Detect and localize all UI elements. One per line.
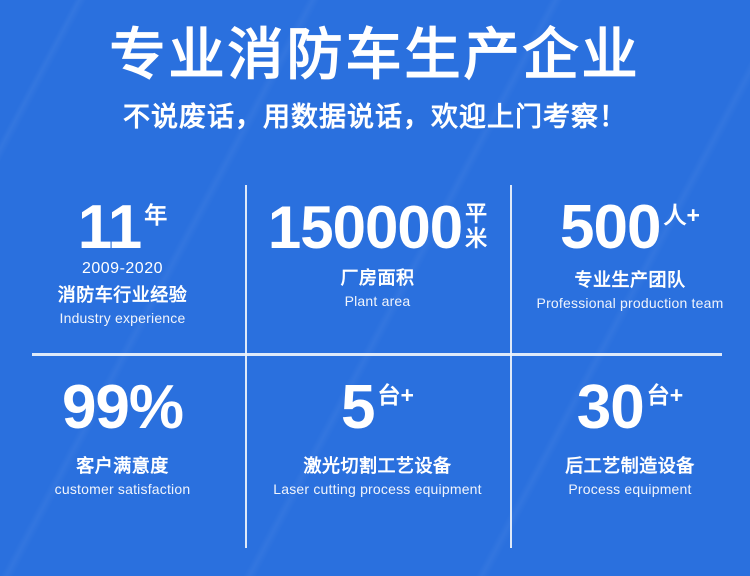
stat-value: 99% xyxy=(62,379,183,438)
stat-label-cn: 厂房面积 xyxy=(341,264,415,290)
stat-label-cn: 客户满意度 xyxy=(76,452,169,478)
stat-number: 5 xyxy=(341,379,374,438)
stat-unit: 年 xyxy=(144,203,167,227)
poster-header: 专业消防车生产企业 不说废话，用数据说话，欢迎上门考察！ xyxy=(0,0,750,133)
stat-labels: 后工艺制造设备 Process equipment xyxy=(565,452,695,497)
stat-label-cn: 专业生产团队 xyxy=(575,266,686,292)
stat-card-production-team: 500 人+ 专业生产团队 Professional production te… xyxy=(510,185,750,355)
stat-labels: 客户满意度 customer satisfaction xyxy=(55,452,191,497)
stat-labels: 专业生产团队 Professional production team xyxy=(537,266,724,311)
stat-number: 500 xyxy=(560,199,660,258)
stat-value: 500 人+ xyxy=(560,199,700,258)
stat-unit-bottom: 米 xyxy=(465,227,487,252)
poster-content: 专业消防车生产企业 不说废话，用数据说话，欢迎上门考察！ 11 年 2009-2… xyxy=(0,0,750,576)
stat-number: 30 xyxy=(577,379,644,438)
stat-unit: 台+ xyxy=(647,383,683,407)
stat-unit-top: 平 xyxy=(465,202,487,227)
stat-labels: 2009-2020 消防车行业经验 Industry experience xyxy=(58,260,188,326)
stat-value: 5 台+ xyxy=(341,379,414,438)
stat-number: 99% xyxy=(62,379,183,438)
stat-label-en: Laser cutting process equipment xyxy=(273,481,482,497)
stat-label-en: Plant area xyxy=(345,293,411,309)
stat-year-range: 2009-2020 xyxy=(82,260,163,278)
stat-labels: 激光切割工艺设备 Laser cutting process equipment xyxy=(273,452,482,497)
stat-label-cn: 消防车行业经验 xyxy=(58,281,188,307)
stat-unit: 台+ xyxy=(378,383,414,407)
page-title: 专业消防车生产企业 xyxy=(0,24,750,87)
stat-card-process-equipment: 30 台+ 后工艺制造设备 Process equipment xyxy=(510,355,750,550)
stat-card-plant-area: 150000 平 米 厂房面积 Plant area xyxy=(245,185,510,355)
stat-card-customer-satisfaction: 99% 客户满意度 customer satisfaction xyxy=(0,355,245,550)
stats-grid: 11 年 2009-2020 消防车行业经验 Industry experien… xyxy=(0,185,750,550)
stat-card-industry-experience: 11 年 2009-2020 消防车行业经验 Industry experien… xyxy=(0,185,245,355)
stat-number: 11 xyxy=(78,199,142,258)
stat-number: 150000 xyxy=(268,199,462,256)
stat-unit: 人+ xyxy=(664,203,700,227)
page-subtitle: 不说废话，用数据说话，欢迎上门考察！ xyxy=(0,101,750,133)
stat-label-cn: 激光切割工艺设备 xyxy=(303,452,451,478)
stat-card-laser-cutting-equipment: 5 台+ 激光切割工艺设备 Laser cutting process equi… xyxy=(245,355,510,550)
stat-labels: 厂房面积 Plant area xyxy=(341,264,415,309)
stat-label-en: Industry experience xyxy=(60,310,186,326)
stat-label-en: Professional production team xyxy=(537,295,724,311)
stat-label-en: Process equipment xyxy=(568,481,691,497)
promo-poster: 专业消防车生产企业 不说废话，用数据说话，欢迎上门考察！ 11 年 2009-2… xyxy=(0,0,750,576)
stat-unit: 平 米 xyxy=(465,202,487,251)
stat-value: 11 年 xyxy=(78,199,168,258)
stat-value: 30 台+ xyxy=(577,379,683,438)
stat-label-cn: 后工艺制造设备 xyxy=(565,452,695,478)
stat-label-en: customer satisfaction xyxy=(55,481,191,497)
stat-value: 150000 平 米 xyxy=(268,199,487,256)
stats-cells: 11 年 2009-2020 消防车行业经验 Industry experien… xyxy=(0,185,750,550)
